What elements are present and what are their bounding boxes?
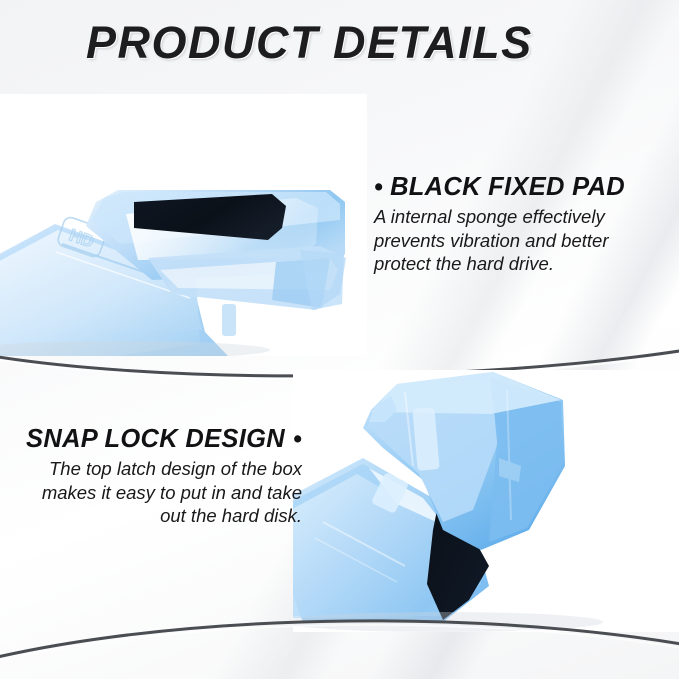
photo-panel-black-pad: HD <box>0 94 367 356</box>
feature-heading-black-fixed-pad: •BLACK FIXED PAD <box>374 172 650 202</box>
feature-heading-text: BLACK FIXED PAD <box>390 173 625 201</box>
feature-body-snap-lock-design: The top latch design of the box makes it… <box>12 457 302 528</box>
divider-arc-bottom-glow <box>0 625 679 676</box>
latch-tab <box>222 304 236 336</box>
feature-snap-lock-design: SNAP LOCK DESIGN• The top latch design o… <box>12 424 302 528</box>
case-shadow <box>0 341 270 356</box>
feature-black-fixed-pad: •BLACK FIXED PAD A internal sponge effec… <box>374 172 650 276</box>
case-shadow-bottom <box>293 612 603 632</box>
product-details-infographic: PRODUCT DETAILS <box>0 0 679 679</box>
photo-black-pad: HD <box>0 94 367 356</box>
photo-panel-snap-lock <box>293 370 679 632</box>
feature-heading-text: SNAP LOCK DESIGN <box>26 425 285 453</box>
bullet-icon: • <box>374 173 383 201</box>
page-title: PRODUCT DETAILS <box>86 17 533 69</box>
feature-body-black-fixed-pad: A internal sponge effectively prevents v… <box>374 205 650 276</box>
feature-heading-snap-lock-design: SNAP LOCK DESIGN• <box>12 424 302 454</box>
photo-snap-lock <box>293 370 679 632</box>
bullet-icon: • <box>293 425 302 453</box>
